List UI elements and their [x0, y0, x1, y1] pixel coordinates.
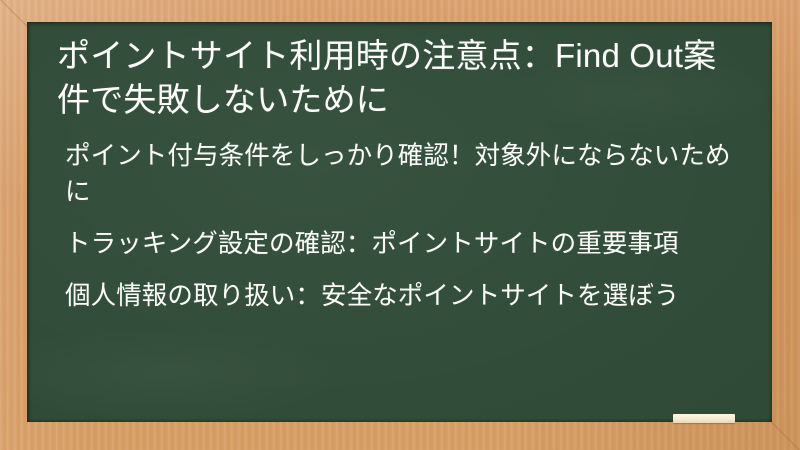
chalkboard-surface: ポイントサイト利用時の注意点：Find Out案件で失敗しないために ポイント付…	[27, 22, 772, 422]
list-item: ポイント付与条件をしっかり確認！対象外にならないために	[51, 138, 748, 210]
topic-list: ポイント付与条件をしっかり確認！対象外にならないために トラッキング設定の確認：…	[51, 138, 748, 314]
list-item: トラッキング設定の確認：ポイントサイトの重要事項	[51, 226, 748, 262]
list-item: 個人情報の取り扱い：安全なポイントサイトを選ぼう	[51, 278, 748, 314]
chalkboard-frame: ポイントサイト利用時の注意点：Find Out案件で失敗しないために ポイント付…	[0, 0, 800, 450]
page-title: ポイントサイト利用時の注意点：Find Out案件で失敗しないために	[51, 34, 748, 122]
chalk-stick-icon	[673, 414, 735, 423]
frame-miter-bottom-right	[767, 417, 800, 450]
